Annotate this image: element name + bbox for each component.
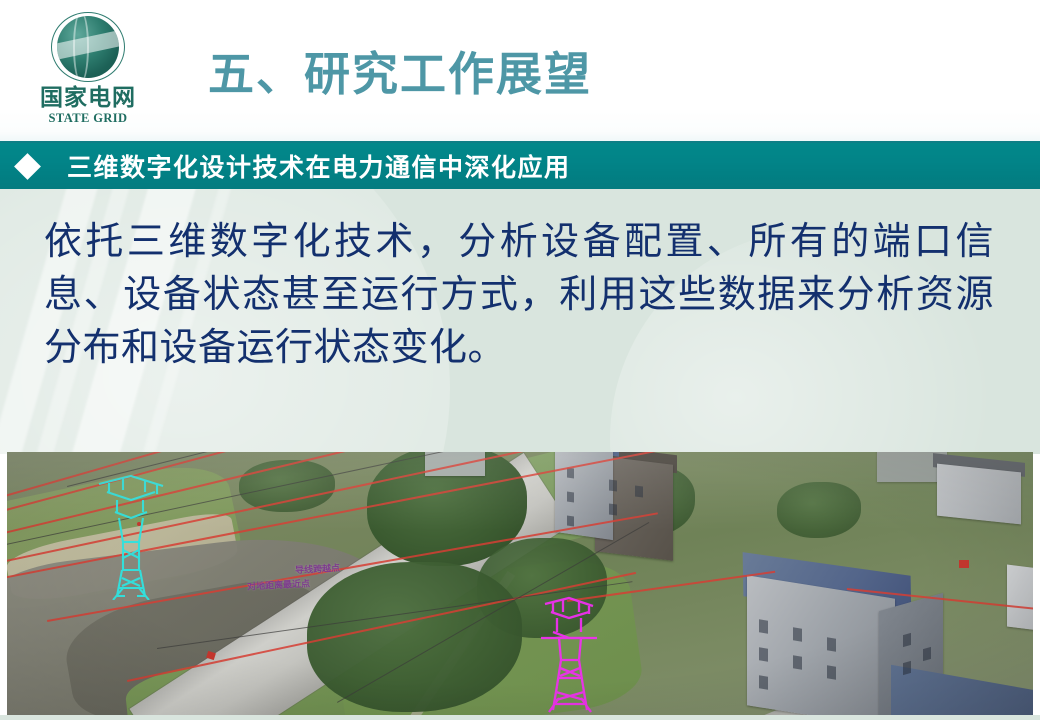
window xyxy=(903,661,911,675)
photo-label: 导线跨越点 xyxy=(295,561,341,576)
window xyxy=(635,486,643,498)
window xyxy=(759,675,768,689)
window xyxy=(759,619,768,633)
window xyxy=(793,627,802,641)
diamond-bullet-icon xyxy=(14,153,41,180)
slide-header: 国家电网 STATE GRID 五、研究工作展望 xyxy=(0,0,1040,143)
presentation-slide: 国家电网 STATE GRID 五、研究工作展望 三维数字化设计技术在电力通信中… xyxy=(0,0,1040,720)
aerial-photo-canvas: 导线跨越点 对地距离最近点 xyxy=(7,452,1033,715)
bottom-strip xyxy=(0,715,1040,720)
window xyxy=(793,655,802,669)
window xyxy=(923,647,931,661)
transmission-tower-cyan xyxy=(93,470,169,600)
state-grid-logo: 国家电网 STATE GRID xyxy=(24,12,152,132)
tree-cluster xyxy=(307,562,522,712)
logo-english-name: STATE GRID xyxy=(24,111,152,126)
section-banner-label: 三维数字化设计技术在电力通信中深化应用 xyxy=(67,148,571,184)
window xyxy=(567,492,574,503)
window xyxy=(567,468,574,479)
marker-point xyxy=(959,560,969,568)
marker-point xyxy=(137,522,141,526)
window xyxy=(903,633,911,647)
section-banner: 三维数字化设计技术在电力通信中深化应用 xyxy=(0,143,1040,189)
window xyxy=(827,665,836,679)
window xyxy=(609,504,617,516)
tree-cluster xyxy=(239,460,335,512)
page-title: 五、研究工作展望 xyxy=(208,46,592,102)
content-area: 依托三维数字化技术，分析设备配置、所有的端口信息、设备状态甚至运行方式，利用这些… xyxy=(0,189,1040,454)
tree-cluster xyxy=(777,482,861,538)
state-grid-globe-icon xyxy=(42,12,134,84)
building xyxy=(747,575,895,715)
building xyxy=(1007,565,1033,632)
logo-globe-icon xyxy=(57,16,119,78)
window xyxy=(827,637,836,651)
body-paragraph: 依托三维数字化技术，分析设备配置、所有的端口信息、设备状态甚至运行方式，利用这些… xyxy=(44,215,994,374)
logo-chinese-name: 国家电网 xyxy=(24,85,152,111)
window xyxy=(759,647,768,661)
aerial-photo: 导线跨越点 对地距离最近点 xyxy=(7,452,1033,715)
transmission-tower-magenta xyxy=(535,594,605,714)
window xyxy=(609,480,617,492)
building xyxy=(937,464,1021,525)
window xyxy=(567,516,574,527)
